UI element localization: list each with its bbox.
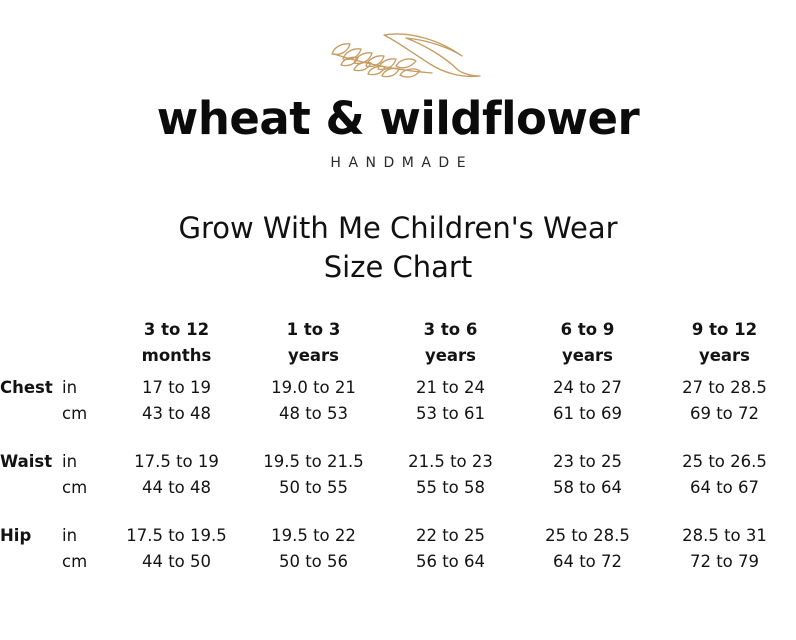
cell-chest-in-2: 21 to 24 [382, 369, 519, 401]
row-unit-waist-in: in [62, 443, 108, 475]
column-header-1: 1 to 3 years [245, 317, 382, 369]
cell-chest-cm-3: 61 to 69 [519, 401, 656, 427]
row-gap [0, 501, 796, 517]
column-header-4: 9 to 12 years [656, 317, 793, 369]
cell-hip-in-3: 25 to 28.5 [519, 517, 656, 549]
cell-waist-cm-4: 64 to 67 [656, 475, 793, 501]
cell-hip-cm-2: 56 to 64 [382, 549, 519, 575]
page-title: Grow With Me Children's Wear Size Chart [0, 209, 796, 287]
row-gap [0, 427, 796, 443]
cell-chest-cm-1: 48 to 53 [245, 401, 382, 427]
cell-hip-cm-0: 44 to 50 [108, 549, 245, 575]
column-header-3: 6 to 9 years [519, 317, 656, 369]
table-row: cm 44 to 48 50 to 55 55 to 58 58 to 64 6… [0, 475, 796, 501]
row-label-hip-blank [0, 549, 62, 575]
cell-chest-in-1: 19.0 to 21 [245, 369, 382, 401]
cell-chest-cm-2: 53 to 61 [382, 401, 519, 427]
column-header-0-line-1: 3 to 12 [108, 317, 245, 343]
brand-tagline: HANDMADE [0, 155, 796, 171]
row-label-chest: Chest [0, 369, 62, 401]
page-title-line-1: Grow With Me Children's Wear [0, 209, 796, 248]
row-label-waist-blank [0, 475, 62, 501]
column-header-2: 3 to 6 years [382, 317, 519, 369]
column-header-1-line-2: years [245, 343, 382, 369]
cell-waist-cm-3: 58 to 64 [519, 475, 656, 501]
header-measure-corner [0, 317, 62, 369]
cell-waist-in-0: 17.5 to 19 [108, 443, 245, 475]
column-header-3-line-1: 6 to 9 [519, 317, 656, 343]
row-unit-hip-cm: cm [62, 549, 108, 575]
page-title-line-2: Size Chart [0, 248, 796, 287]
cell-chest-in-4: 27 to 28.5 [656, 369, 793, 401]
cell-waist-cm-0: 44 to 48 [108, 475, 245, 501]
cell-chest-in-0: 17 to 19 [108, 369, 245, 401]
size-chart-table: 3 to 12 months 1 to 3 years 3 to 6 years… [0, 317, 796, 575]
cell-waist-in-2: 21.5 to 23 [382, 443, 519, 475]
cell-chest-cm-4: 69 to 72 [656, 401, 793, 427]
column-header-3-line-2: years [519, 343, 656, 369]
cell-waist-cm-2: 55 to 58 [382, 475, 519, 501]
cell-hip-cm-3: 64 to 72 [519, 549, 656, 575]
table-row: Hip in 17.5 to 19.5 19.5 to 22 22 to 25 … [0, 517, 796, 549]
cell-waist-in-4: 25 to 26.5 [656, 443, 793, 475]
cell-chest-in-3: 24 to 27 [519, 369, 656, 401]
brand-header: wheat & wildflower HANDMADE [0, 0, 796, 171]
column-header-0: 3 to 12 months [108, 317, 245, 369]
column-header-4-line-1: 9 to 12 [656, 317, 793, 343]
cell-waist-in-1: 19.5 to 21.5 [245, 443, 382, 475]
column-header-2-line-2: years [382, 343, 519, 369]
cell-waist-cm-1: 50 to 55 [245, 475, 382, 501]
column-header-2-line-1: 3 to 6 [382, 317, 519, 343]
wheat-stalk-icon [310, 26, 486, 84]
row-gap-cell [0, 427, 796, 443]
column-header-1-line-1: 1 to 3 [245, 317, 382, 343]
table-row: Chest in 17 to 19 19.0 to 21 21 to 24 24… [0, 369, 796, 401]
row-label-hip: Hip [0, 517, 62, 549]
header-unit-corner [62, 317, 108, 369]
row-unit-chest-in: in [62, 369, 108, 401]
column-header-4-line-2: years [656, 343, 793, 369]
row-gap-cell [0, 501, 796, 517]
cell-waist-in-3: 23 to 25 [519, 443, 656, 475]
row-label-chest-blank [0, 401, 62, 427]
row-unit-chest-cm: cm [62, 401, 108, 427]
cell-hip-in-0: 17.5 to 19.5 [108, 517, 245, 549]
table-row: cm 43 to 48 48 to 53 53 to 61 61 to 69 6… [0, 401, 796, 427]
cell-chest-cm-0: 43 to 48 [108, 401, 245, 427]
brand-name: wheat & wildflower [0, 96, 796, 141]
table-header-row: 3 to 12 months 1 to 3 years 3 to 6 years… [0, 317, 796, 369]
cell-hip-in-4: 28.5 to 31 [656, 517, 793, 549]
cell-hip-cm-1: 50 to 56 [245, 549, 382, 575]
row-unit-hip-in: in [62, 517, 108, 549]
size-chart-page: wheat & wildflower HANDMADE Grow With Me… [0, 0, 796, 640]
cell-hip-in-1: 19.5 to 22 [245, 517, 382, 549]
cell-hip-cm-4: 72 to 79 [656, 549, 793, 575]
row-label-waist: Waist [0, 443, 62, 475]
table-row: Waist in 17.5 to 19 19.5 to 21.5 21.5 to… [0, 443, 796, 475]
table-row: cm 44 to 50 50 to 56 56 to 64 64 to 72 7… [0, 549, 796, 575]
row-unit-waist-cm: cm [62, 475, 108, 501]
cell-hip-in-2: 22 to 25 [382, 517, 519, 549]
column-header-0-line-2: months [108, 343, 245, 369]
